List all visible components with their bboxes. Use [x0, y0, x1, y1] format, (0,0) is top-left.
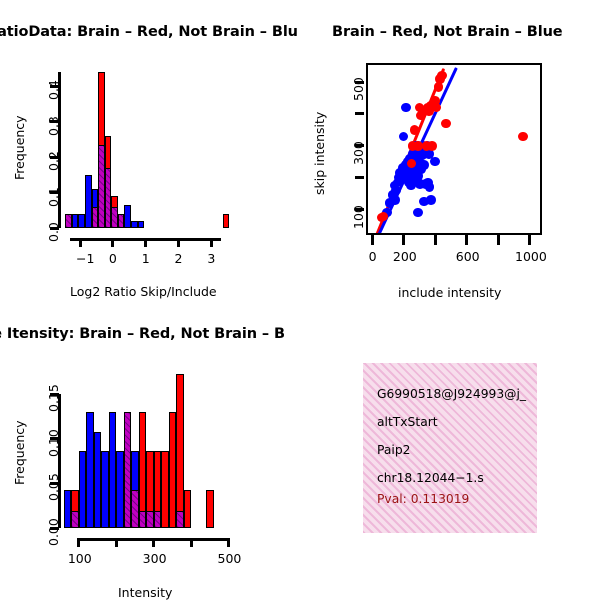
ratio-y-tick-label: 0.3 [46, 116, 61, 136]
ratio-histogram-bar [85, 175, 92, 228]
scatter-x-tick-label: 200 [393, 249, 417, 264]
intensity-x-tick [77, 538, 80, 547]
intensity-histogram-panel: ne Itensity: Brain – Red, Not Brain – B … [0, 300, 300, 600]
scatter-data-area [368, 65, 540, 233]
intensity-histogram-bar [154, 511, 161, 528]
scatter-x-tick [465, 235, 468, 245]
scatter-title: Brain – Red, Not Brain – Blue [332, 24, 563, 40]
intensity-x-tick [190, 538, 193, 547]
scatter-point [390, 195, 400, 205]
scatter-point [425, 182, 435, 192]
ratio-x-tick-label: −1 [76, 251, 94, 266]
intensity-histogram-bar [101, 451, 108, 528]
scatter-ylabel: skip intensity [312, 112, 327, 195]
intensity-histogram-bar [86, 412, 93, 528]
scatter-x-tick [371, 235, 374, 245]
intensity-histogram-bar [146, 511, 153, 528]
intensity-histogram-bar [139, 511, 146, 528]
scatter-y-tick [355, 112, 364, 115]
ratio-x-tick-label: 3 [207, 251, 215, 266]
intensity-histogram-bar [131, 490, 138, 528]
scatter-xlabel: include intensity [398, 285, 501, 300]
scatter-point [419, 160, 429, 170]
ratio-y-tick-label: 0.0 [46, 222, 61, 242]
scatter-panel: Brain – Red, Not Brain – Blue skip inten… [300, 0, 600, 300]
intensity-histogram-xlabel: Intensity [118, 585, 172, 600]
scatter-point [413, 208, 423, 218]
ratio-x-tick [144, 238, 147, 247]
scatter-y-tick-label: 500 [351, 77, 366, 101]
intensity-histogram-ylabel: Frequency [12, 420, 27, 485]
scatter-y-tick [355, 176, 364, 179]
intensity-y-tick-label: 0.10 [46, 429, 61, 457]
intensity-histogram-bar [206, 490, 213, 528]
ratio-x-tick-label: 0 [109, 251, 117, 266]
ratio-histogram-xlabel: Log2 Ratio Skip/Include [70, 284, 217, 299]
ratio-x-tick-label: 2 [175, 251, 183, 266]
intensity-histogram-bar [161, 451, 168, 528]
intensity-histogram-title: ne Itensity: Brain – Red, Not Brain – B [0, 326, 285, 342]
ratio-y-tick-label: 0.4 [46, 80, 61, 100]
intensity-histogram-bar [169, 412, 176, 528]
intensity-histogram-bar [71, 511, 78, 528]
ratio-histogram-bar [118, 214, 125, 228]
ratio-x-tick [79, 238, 82, 247]
scatter-point [401, 103, 411, 113]
intensity-y-tick-label: 0.05 [46, 474, 61, 502]
scatter-x-tick-label: 1000 [515, 249, 547, 264]
ratio-x-tick [111, 238, 114, 247]
ratio-x-tick-label: 1 [142, 251, 150, 266]
ratio-histogram-bar [223, 214, 230, 228]
scatter-point [391, 186, 401, 196]
scatter-point [410, 125, 420, 135]
intensity-histogram-bar [176, 511, 183, 528]
intensity-y-tick-label: 0.15 [46, 384, 61, 412]
scatter-y-tick-label: 300 [351, 141, 366, 165]
intensity-histogram-bar [94, 432, 101, 528]
scatter-x-tick [402, 235, 405, 245]
ratio-y-tick-label: 0.2 [46, 151, 61, 171]
gene-info-line: G6990518@J924993@j_ [377, 387, 526, 401]
ratio-x-tick [210, 238, 213, 247]
ratio-histogram-bar [138, 221, 145, 228]
intensity-x-tick [227, 538, 230, 547]
scatter-x-tick [434, 235, 437, 245]
gene-info-pval: Pval: 0.113019 [377, 492, 469, 506]
scatter-point [419, 197, 429, 207]
scatter-x-tick [497, 235, 500, 245]
scatter-point [518, 132, 528, 142]
intensity-histogram-bar [109, 412, 116, 528]
intensity-x-tick-label: 500 [218, 551, 242, 566]
scatter-x-tick-label: 600 [456, 249, 480, 264]
intensity-histogram-bar [176, 374, 183, 528]
intensity-histogram-bar [64, 490, 71, 528]
ratio-histogram-title: RatioData: Brain – Red, Not Brain – Blu [0, 24, 298, 40]
gene-info-line: Paip2 [377, 443, 410, 457]
scatter-y-tick-label: 100 [351, 205, 366, 229]
scatter-point [437, 71, 447, 81]
intensity-histogram-bar [124, 412, 131, 528]
intensity-x-tick-label: 100 [68, 551, 92, 566]
ratio-histogram-bar [65, 214, 72, 228]
scatter-point [432, 103, 442, 113]
ratio-x-tick [177, 238, 180, 247]
ratio-histogram-ylabel: Frequency [12, 115, 27, 180]
scatter-point [430, 157, 440, 167]
scatter-point [399, 132, 409, 142]
intensity-y-axis-line [58, 394, 61, 528]
gene-info-line: altTxStart [377, 415, 438, 429]
ratio-y-tick-label: 0.1 [46, 187, 61, 207]
scatter-point [427, 141, 437, 151]
scatter-point [441, 119, 451, 129]
ratio-histogram-panel: RatioData: Brain – Red, Not Brain – Blu … [0, 0, 300, 300]
intensity-y-tick-label: 0.00 [46, 518, 61, 546]
gene-info-line: chr18.12044−1.s [377, 471, 484, 485]
scatter-x-tick-label: 0 [369, 249, 377, 264]
intensity-histogram-bar [116, 451, 123, 528]
intensity-x-tick [152, 538, 155, 547]
gene-info-box: G6990518@J924993@j_altTxStartPaip2chr18.… [363, 363, 537, 533]
intensity-x-tick [115, 538, 118, 547]
scatter-x-tick [528, 235, 531, 245]
intensity-histogram-bar [79, 451, 86, 528]
intensity-x-tick-label: 300 [143, 551, 167, 566]
intensity-histogram-bar [184, 490, 191, 528]
